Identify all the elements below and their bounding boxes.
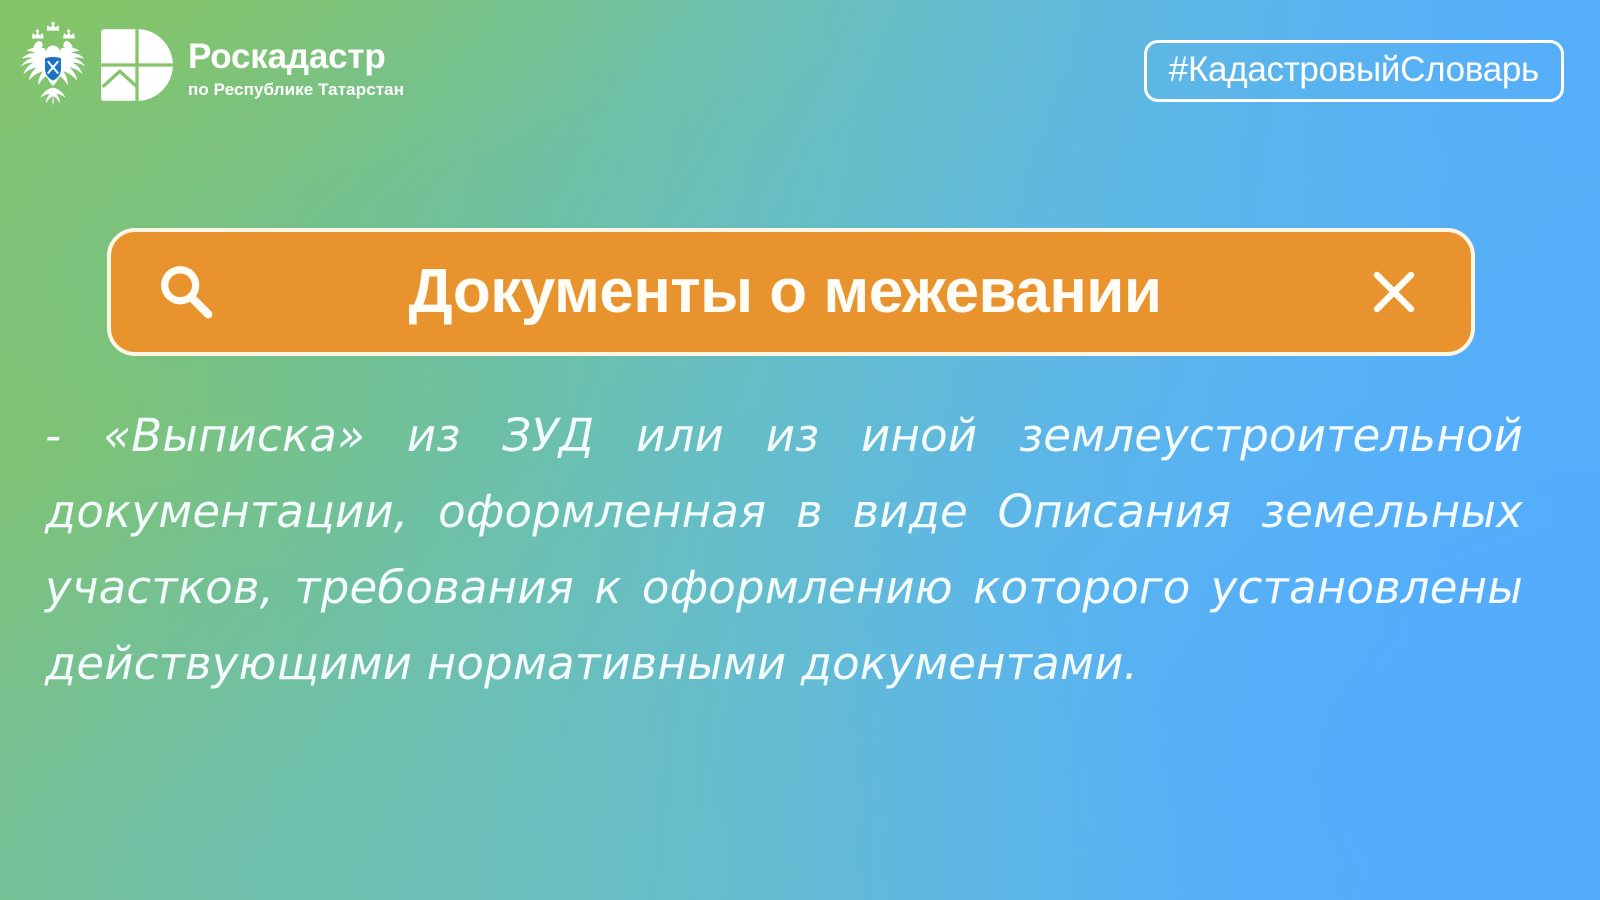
brand-subtitle: по Республике Татарстан [188, 81, 404, 98]
slide-canvas: Роскадастр по Республике Татарстан #Када… [0, 0, 1600, 900]
definition-text: - «Выписка» из ЗУД или из иной землеустр… [45, 398, 1523, 702]
brand-title: Роскадастр [188, 39, 404, 74]
header: Роскадастр по Республике Татарстан #Када… [0, 0, 1600, 130]
search-term: Документы о межевании [217, 261, 1367, 323]
close-icon[interactable] [1367, 265, 1421, 319]
roskadastr-circle-house-logo-icon [98, 25, 176, 105]
brand-lockup: Роскадастр по Республике Татарстан [14, 22, 404, 108]
hashtag-badge[interactable]: #КадастровыйСловарь [1144, 40, 1564, 102]
search-icon[interactable] [155, 261, 217, 323]
search-bar[interactable]: Документы о межевании [107, 228, 1475, 356]
russian-double-headed-eagle-emblem-icon [14, 22, 92, 108]
brand-text: Роскадастр по Республике Татарстан [188, 33, 404, 98]
